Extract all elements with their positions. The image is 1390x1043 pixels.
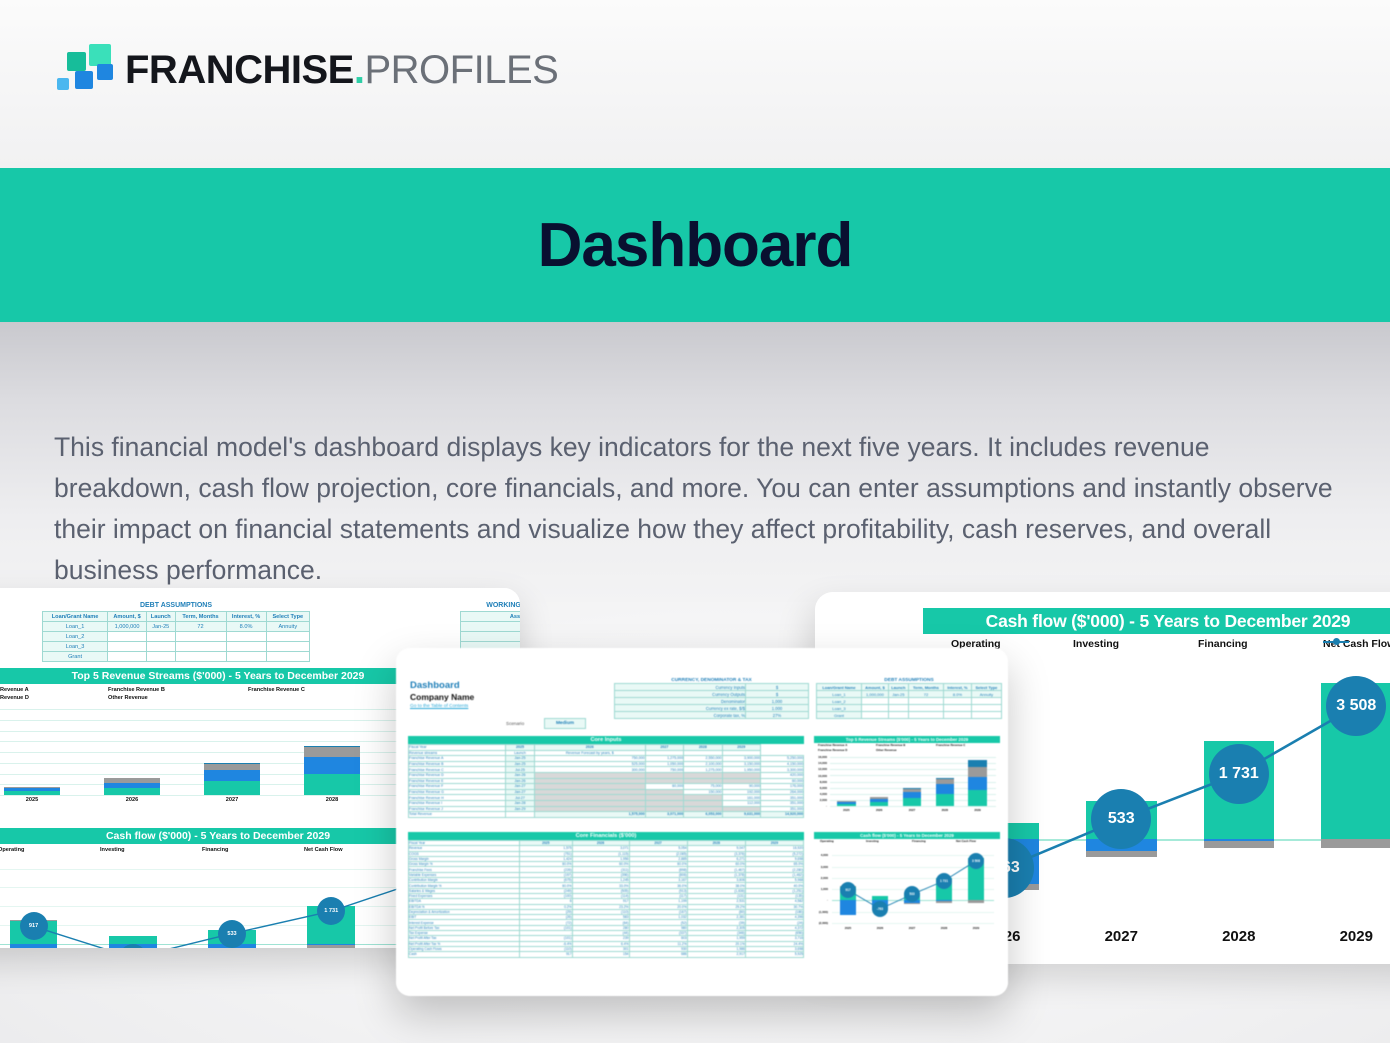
cell (266, 632, 309, 642)
cell (175, 642, 226, 652)
page-header: FRANCHISE.PROFILES (0, 0, 1390, 168)
table-row: Total Revenue1,575,0003,071,0006,053,000… (409, 812, 804, 818)
legend-label: Operating (0, 847, 24, 853)
cell (266, 642, 309, 652)
y-tick-label: 3,000 (814, 865, 828, 869)
x-tick-label: 2029 (960, 926, 992, 930)
brand-wordmark: FRANCHISE.PROFILES (125, 50, 558, 90)
legend-label: Franchise Revenue C (936, 743, 965, 747)
x-tick-label: 2027 (182, 797, 282, 803)
y-tick-label: 1,000 (814, 887, 828, 891)
legend-label: Franchise Revenue D (0, 695, 29, 701)
legend-label: Operating (820, 839, 834, 843)
bar-segment (903, 788, 921, 792)
core-inputs-title: Core Inputs (408, 736, 804, 744)
cell: Loan/Grant Name (817, 684, 862, 691)
y-tick-label: 2,000 (814, 876, 828, 880)
cell (944, 705, 972, 712)
brand-name-bold: FRANCHISE (125, 48, 354, 92)
right-cashflow-title: Cash flow ($'000) - 5 Years to December … (986, 611, 1351, 632)
cell (108, 642, 147, 652)
debt-assumptions-table: Loan/Grant NameAmount, $LaunchTerm, Mont… (42, 611, 310, 662)
cell: Accounts Receivable Days (461, 622, 521, 632)
cell: Annuity (971, 691, 1001, 698)
table-row: Accounts Receivable Days15 (461, 622, 521, 632)
legend-label: Franchise Revenue D (818, 748, 847, 752)
cell: 9,631,000 (722, 812, 760, 818)
legend-label: Financing (912, 839, 926, 843)
data-bubble: -763 (872, 901, 888, 917)
debt-assumptions-title: DEBT ASSUMPTIONS (42, 602, 310, 611)
cell: Loan_3 (817, 705, 862, 712)
right-cashflow-title-band: Cash flow ($'000) - 5 Years to December … (923, 608, 1390, 634)
cell: Currency Outputs (615, 691, 746, 698)
table-row: Grant (817, 712, 1002, 719)
bar-segment (4, 791, 60, 795)
cell: 72 (175, 622, 226, 632)
center-debt-table: Loan/Grant NameAmount, $LaunchTerm, Mont… (816, 683, 1002, 719)
cell: 27% (746, 712, 809, 719)
center-top5-title: Top 5 Revenue Streams ($'000) - 5 Years … (814, 736, 1000, 743)
legend-label: Other Revenue (108, 695, 148, 701)
table-row: Currency Outputs$ (615, 691, 809, 698)
cell: 686 (629, 952, 687, 957)
cell: Amount, $ (108, 612, 147, 622)
table-row: Currency ex rate, $/$1.000 (615, 705, 809, 712)
table-row: Grant (43, 652, 310, 662)
x-tick-label: 2026 (863, 808, 896, 812)
table-row: Cash9171546862,9175,925 (409, 952, 804, 957)
cell (908, 698, 943, 705)
bar-segment (837, 804, 855, 806)
cell: Jan-25 (146, 622, 175, 632)
x-tick-label: 2025 (0, 797, 82, 803)
legend-label: Franchise Revenue A (0, 687, 29, 693)
bar-operating (109, 936, 157, 944)
cell (861, 705, 888, 712)
page-title-banner: Dashboard (0, 168, 1390, 322)
brand-logo[interactable]: FRANCHISE.PROFILES (55, 44, 558, 96)
cell: Grant (43, 652, 108, 662)
legend-label: Net Cash Flow (956, 839, 976, 843)
y-tick-label: 2,000 (814, 798, 827, 802)
bar-segment (304, 757, 360, 774)
cell: Loan/Grant Name (43, 612, 108, 622)
cell: Interest, % (944, 684, 972, 691)
table-row: Currency Inputs$ (615, 684, 809, 691)
x-tick-label: 2028 (928, 808, 961, 812)
cell: 8.0% (226, 622, 266, 632)
cell (175, 652, 226, 662)
cell: Loan_1 (817, 691, 862, 698)
gridline (830, 806, 996, 807)
y-tick-label: 8,000 (814, 780, 827, 784)
cell: 8.0% (944, 691, 972, 698)
y-tick-label: 4,000 (814, 792, 827, 796)
cell (971, 712, 1001, 719)
cell (146, 632, 175, 642)
x-tick-label: 2026 (82, 797, 182, 803)
cell: Select Type (971, 684, 1001, 691)
cell: Currency ex rate, $/$ (615, 705, 746, 712)
cell (888, 705, 908, 712)
legend-label: Investing (100, 847, 125, 853)
bar-segment (968, 767, 986, 777)
bar-segment (903, 792, 921, 798)
bar-segment (104, 783, 160, 789)
cell: 3,071,000 (645, 812, 683, 818)
data-bubble: 533 (218, 920, 246, 948)
bar-segment (936, 794, 954, 806)
bar-segment (104, 788, 160, 795)
x-tick-label: 2027 (896, 808, 929, 812)
table-row: Loan_2 (817, 698, 1002, 705)
y-tick-label: (2,000) (814, 921, 828, 925)
scenario-label: Scenario (506, 721, 524, 726)
bar-segment (870, 802, 888, 806)
cell: 72 (908, 691, 943, 698)
cell: Assumption (461, 612, 521, 622)
logo-squares-icon (55, 44, 109, 96)
y-tick-label: 16,000 (814, 755, 827, 759)
brand-dot: . (354, 48, 365, 92)
center-top5-chart: -2,0004,0006,0008,00010,00012,00014,0001… (814, 753, 1000, 815)
working-capital-title: WORKING CAPITAL & DEPRECIATION (460, 602, 520, 611)
bar-segment (870, 799, 888, 802)
cell: Interest, % (226, 612, 266, 622)
center-top5-legend: Franchise Revenue A Franchise Revenue B … (814, 743, 1000, 753)
bar-segment (204, 770, 260, 781)
toc-link[interactable]: Go to the Table of Contents (410, 704, 474, 709)
x-tick-label: 2026 (864, 926, 896, 930)
bar-financing (307, 945, 355, 948)
cell (108, 632, 147, 642)
cell: 5,925 (745, 952, 803, 957)
x-tick-label: 2025 (832, 926, 864, 930)
bar-segment (968, 790, 986, 806)
cell (944, 712, 972, 719)
legend-label: Franchise Revenue C (248, 687, 305, 693)
core-financials-block: Core Financials ($'000) Fiscal Year20252… (408, 832, 804, 958)
core-inputs-table: Fiscal Year20252026202720282029Revenue s… (408, 744, 804, 818)
bar-segment (204, 763, 260, 764)
bar-financing (904, 903, 919, 904)
table-row: Loan_11,000,000Jan-25728.0%Annuity (43, 622, 310, 632)
cell: Annuity (266, 622, 309, 632)
x-tick-label: 2025 (830, 808, 863, 812)
cell: 14,920,000 (760, 812, 803, 818)
cell: 2,917 (687, 952, 745, 957)
bar-investing (307, 944, 355, 945)
legend-label: Financing (202, 847, 228, 853)
cell (226, 652, 266, 662)
cell: Term, Months (175, 612, 226, 622)
bar-segment (304, 747, 360, 757)
center-card-title: Dashboard (410, 680, 474, 691)
bar-segment (968, 760, 986, 767)
cell (226, 632, 266, 642)
cell: $ (746, 684, 809, 691)
table-row: Loan_3 (43, 642, 310, 652)
bar-segment (837, 802, 855, 804)
brand-name-light: PROFILES (364, 48, 558, 92)
table-row: AssumptionValue (461, 612, 521, 622)
y-tick-label: (1,000) (814, 910, 828, 914)
y-tick-label: 10,000 (814, 774, 827, 778)
center-company-name: Company Name (410, 692, 474, 702)
data-bubble: 917 (20, 912, 48, 940)
bar-segment (4, 788, 60, 791)
cell: 917 (520, 952, 573, 957)
bar-segment (4, 787, 60, 789)
bar-investing (936, 900, 951, 901)
gridline (832, 923, 994, 924)
center-title-block: Dashboard Company Name Go to the Table o… (410, 680, 474, 709)
bar-investing (840, 900, 855, 914)
cell (266, 652, 309, 662)
cell: 1,575,000 (534, 812, 645, 818)
cell: 1,000,000 (108, 622, 147, 632)
cell: Cash (409, 952, 520, 957)
table-row: Loan/Grant NameAmount, $LaunchTerm, Mont… (817, 684, 1002, 691)
bar-investing (10, 944, 58, 948)
debt-assumptions-block: DEBT ASSUMPTIONS Loan/Grant NameAmount, … (42, 602, 310, 662)
cell: Loan_2 (817, 698, 862, 705)
cell: 1,000 (746, 698, 809, 705)
bar-operating (872, 896, 887, 901)
core-inputs-block: Core Inputs Fiscal Year20252026202720282… (408, 736, 804, 818)
center-cashflow-chart: (2,000)(1,000)-1,0002,0003,0004,00020252… (814, 847, 1000, 933)
center-cashflow-panel: Cash flow ($'000) - 5 Years to December … (814, 832, 1000, 933)
currency-block: CURRENCY, DENOMINATOR & TAX Currency Inp… (614, 678, 809, 719)
bar-financing (968, 900, 983, 903)
y-tick-label: 14,000 (814, 761, 827, 765)
data-bubble: 3 508 (968, 853, 984, 869)
bar-segment (936, 778, 954, 784)
cell (226, 642, 266, 652)
legend-label: Other Revenue (876, 748, 897, 752)
cell: Corporate tax, % (615, 712, 746, 719)
cell: Launch (888, 684, 908, 691)
data-bubble: 1 731 (936, 873, 952, 889)
center-cashflow-legend: Operating Investing Financing Net Cash F… (814, 839, 1000, 847)
cell: Loan_1 (43, 622, 108, 632)
bar-segment (968, 777, 986, 790)
legend-label: Investing (1073, 638, 1119, 650)
center-debt-block: DEBT ASSUMPTIONS Loan/Grant NameAmount, … (816, 678, 1002, 719)
legend-label: Franchise Revenue B (876, 743, 905, 747)
cell: Accounts Payable Days (461, 632, 521, 642)
center-top5-panel: Top 5 Revenue Streams ($'000) - 5 Years … (814, 736, 1000, 815)
y-tick-label: 4,000 (814, 853, 828, 857)
cell: Denominator (615, 698, 746, 705)
cell (108, 652, 147, 662)
gridline (832, 912, 994, 913)
page-title: Dashboard (538, 210, 853, 281)
cell (908, 712, 943, 719)
cell (146, 652, 175, 662)
bar-segment (104, 778, 160, 782)
center-cashflow-title: Cash flow ($'000) - 5 Years to December … (814, 832, 1000, 839)
cell (888, 698, 908, 705)
cell (861, 698, 888, 705)
cell (888, 712, 908, 719)
bar-segment (204, 781, 260, 795)
x-tick-label: 2029 (961, 808, 994, 812)
legend-label: Net Cash Flow (304, 847, 343, 853)
cell: Launch (146, 612, 175, 622)
legend-label: Investing (866, 839, 879, 843)
table-row: Loan_3 (817, 705, 1002, 712)
cell (175, 632, 226, 642)
data-bubble: 1 731 (1209, 744, 1269, 804)
scenario-select[interactable]: Medium (544, 718, 586, 729)
table-row: Loan_11,000,000Jan-25728.0%Annuity (817, 691, 1002, 698)
y-tick-label: - (814, 898, 828, 902)
legend-label: Financing (1198, 638, 1248, 650)
cell: Total Revenue (409, 812, 506, 818)
legend-label: Franchise Revenue A (818, 743, 847, 747)
cell (908, 705, 943, 712)
bar-segment (870, 797, 888, 799)
cell: 6,053,000 (684, 812, 722, 818)
cell: 1.000 (746, 705, 809, 712)
intro-paragraph: This financial model's dashboard display… (54, 427, 1342, 591)
cell (971, 698, 1001, 705)
x-tick-label: 2027 (896, 926, 928, 930)
bar-segment (304, 774, 360, 795)
cell (506, 812, 535, 818)
table-row: Corporate tax, %27% (615, 712, 809, 719)
cell: Currency Inputs (615, 684, 746, 691)
x-tick-label: 2028 (928, 926, 960, 930)
table-row: Accounts Payable Days25 (461, 632, 521, 642)
bar-segment (903, 798, 921, 806)
y-tick-label: 12,000 (814, 767, 827, 771)
center-dashboard-card[interactable]: Dashboard Company Name Go to the Table o… (396, 648, 1008, 996)
cell (971, 705, 1001, 712)
cell (146, 642, 175, 652)
table-row: Denominator1,000 (615, 698, 809, 705)
cell: Grant (817, 712, 862, 719)
cell (861, 712, 888, 719)
bar-segment (204, 763, 260, 770)
cell: Loan_3 (43, 642, 108, 652)
data-bubble: 917 (840, 882, 856, 898)
cell: Select Type (266, 612, 309, 622)
table-row: Loan_2 (43, 632, 310, 642)
x-tick-label: 2028 (282, 797, 382, 803)
cell: $ (746, 691, 809, 698)
data-bubble: 3 508 (1326, 676, 1386, 736)
cell: Loan_2 (43, 632, 108, 642)
cell: Jan-25 (888, 691, 908, 698)
cell: 1,000,000 (861, 691, 888, 698)
y-tick-label: - (814, 804, 827, 808)
table-row: Loan/Grant NameAmount, $LaunchTerm, Mont… (43, 612, 310, 622)
cell: 154 (572, 952, 629, 957)
scenario-value: Medium (556, 721, 574, 726)
gridline (830, 757, 996, 758)
y-tick-label: 6,000 (814, 786, 827, 790)
currency-table: Currency Inputs$Currency Outputs$Denomin… (614, 683, 809, 719)
cell (944, 698, 972, 705)
core-financials-table: Fiscal Year20252026202720282029Revenue1,… (408, 840, 804, 958)
legend-label: Franchise Revenue B (108, 687, 165, 693)
data-bubble: 533 (1091, 789, 1151, 849)
core-financials-title: Core Financials ($'000) (408, 832, 804, 840)
bar-segment (837, 801, 855, 802)
cell: Amount, $ (861, 684, 888, 691)
cell: Term, Months (908, 684, 943, 691)
bar-segment (936, 784, 954, 794)
